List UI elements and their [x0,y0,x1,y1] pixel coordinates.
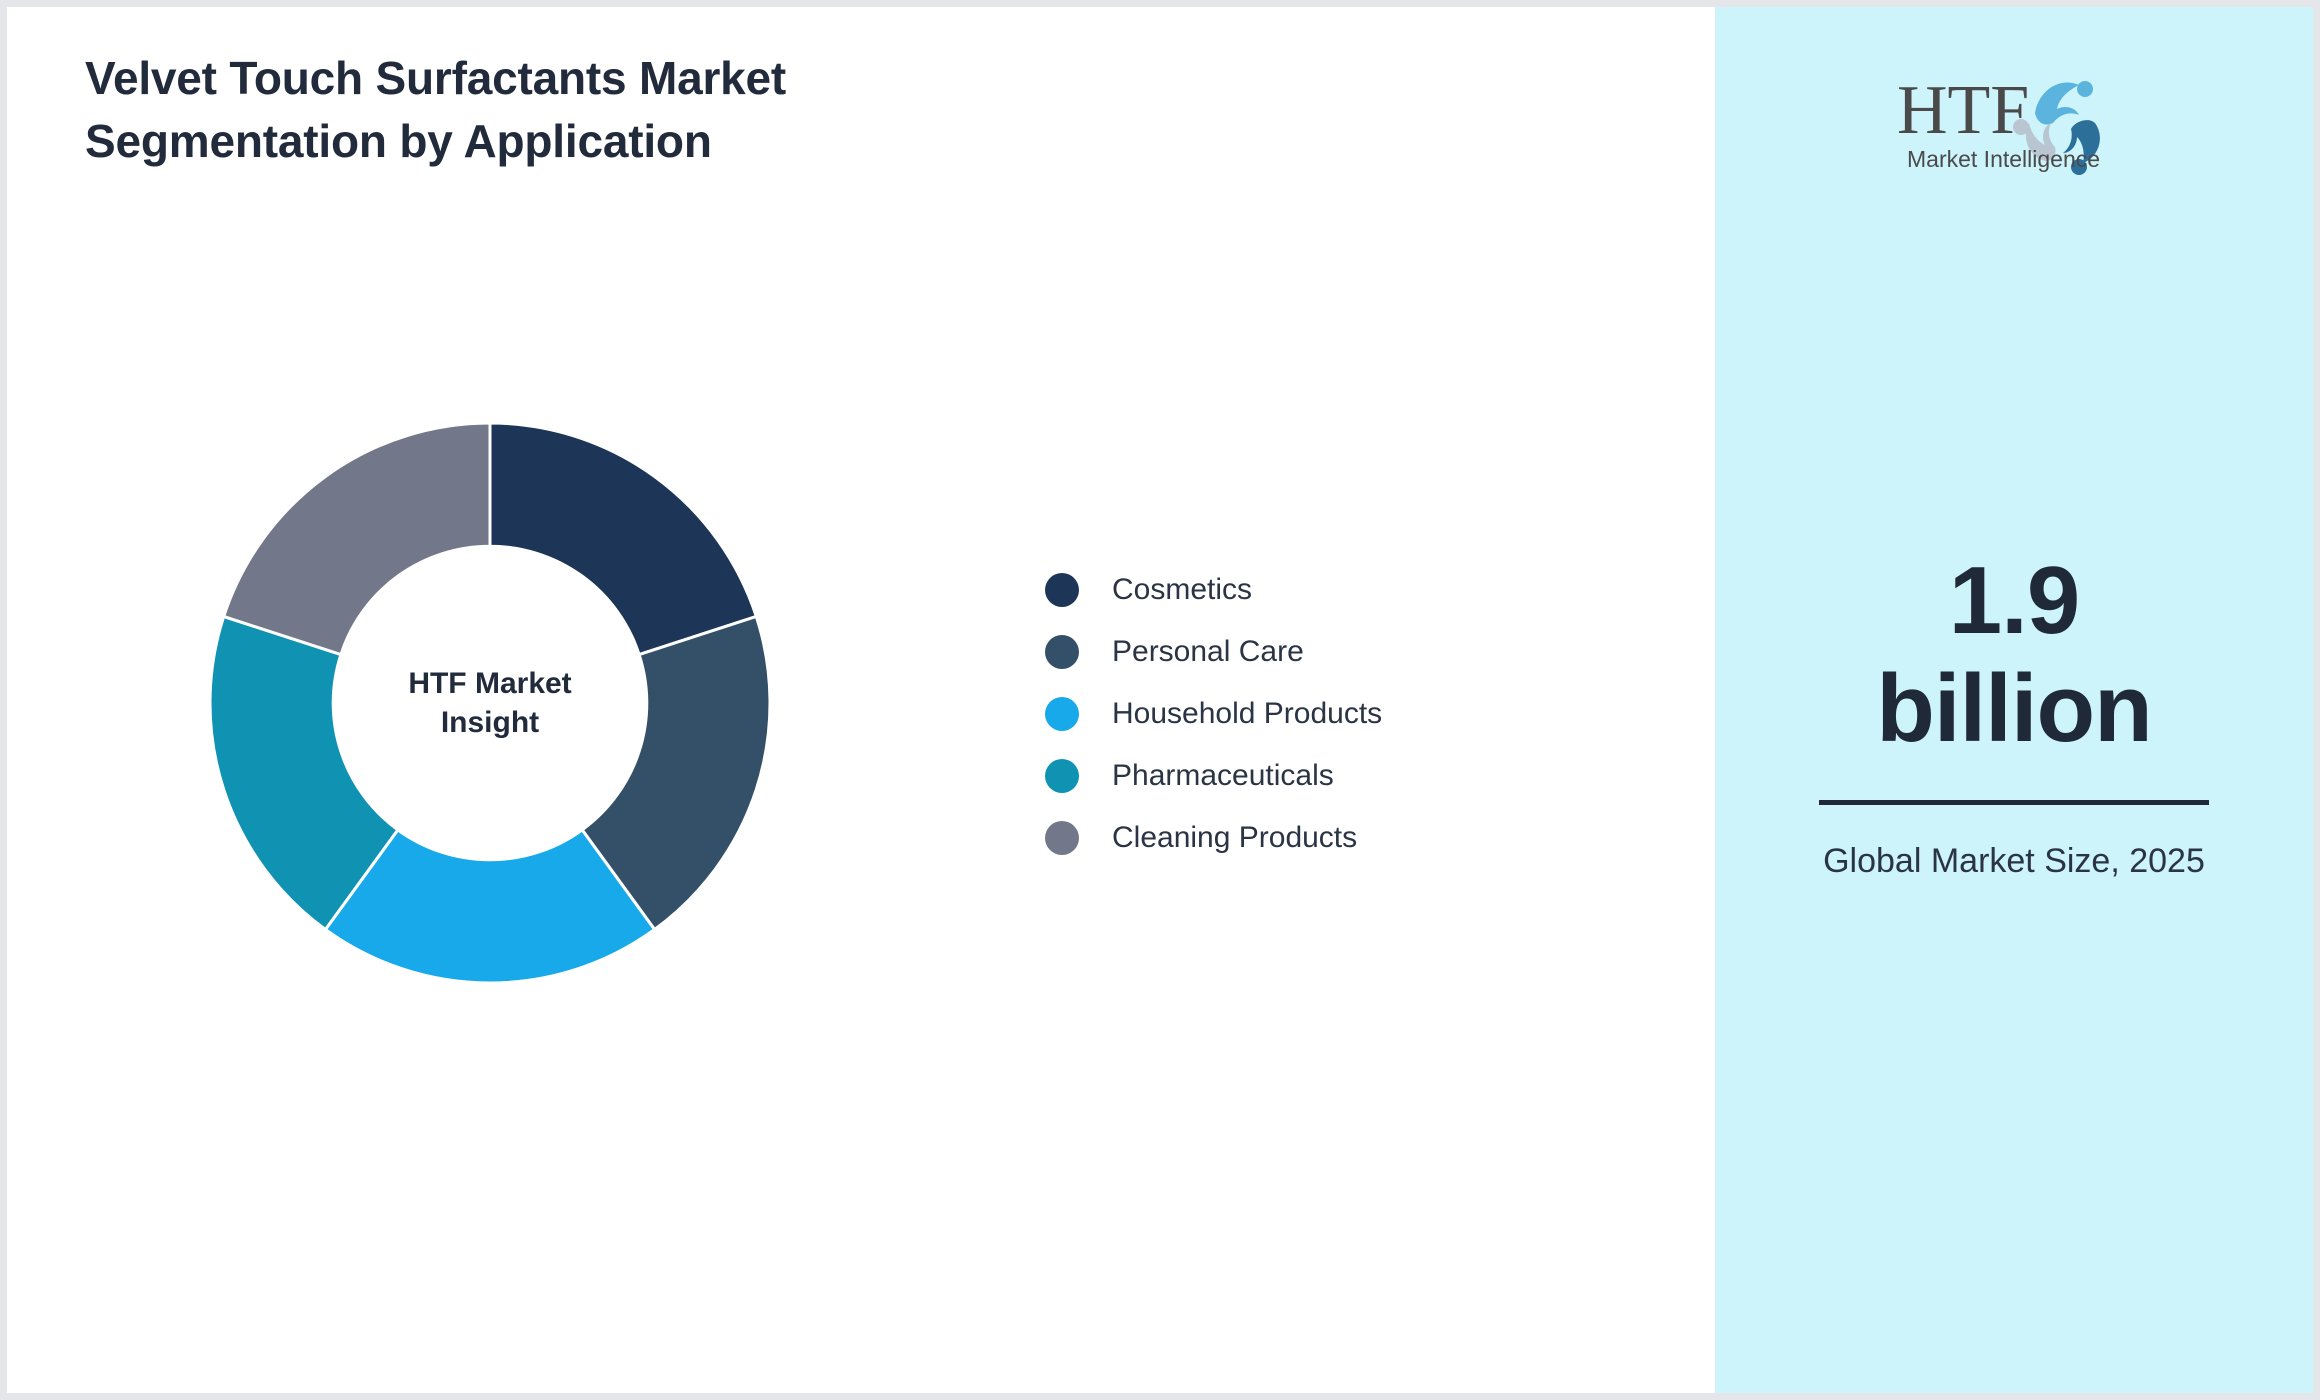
logo-tagline-text: Market Intelligence [1907,146,2100,172]
donut-slice-group [210,423,770,983]
legend-item-label: Cosmetics [1112,573,1252,607]
stat-caption: Global Market Size, 2025 [1789,837,2239,886]
legend-item[interactable]: Cosmetics [1045,559,1382,621]
stat-value-line1: 1.9 [1789,547,2239,655]
legend-item-label: Household Products [1112,697,1382,731]
infographic-card: Velvet Touch Surfactants Market Segmenta… [0,0,2320,1400]
logo-wordmark-text: HTF [1897,72,2029,149]
stat-value-line2: billion [1789,655,2239,763]
legend-swatch-icon [1045,759,1079,793]
stat-panel: HTF Market Intelligence 1.9 billion Glob… [1715,7,2313,1393]
legend-swatch-icon [1045,635,1079,669]
legend-item[interactable]: Pharmaceuticals [1045,745,1382,807]
legend-swatch-icon [1045,573,1079,607]
legend-swatch-icon [1045,821,1079,855]
chart-panel: Velvet Touch Surfactants Market Segmenta… [7,7,1715,1393]
legend-item[interactable]: Cleaning Products [1045,807,1382,869]
donut-slice[interactable] [490,423,756,655]
stat-divider [1819,800,2209,805]
legend-item-label: Pharmaceuticals [1112,759,1334,793]
market-size-stat: 1.9 billion Global Market Size, 2025 [1789,547,2239,886]
legend-item[interactable]: Personal Care [1045,621,1382,683]
legend-swatch-icon [1045,697,1079,731]
logo-svg: HTF Market Intelligence [1889,65,2139,175]
chart-legend: CosmeticsPersonal CareHousehold Products… [1045,559,1382,869]
page-title: Velvet Touch Surfactants Market Segmenta… [85,47,1085,174]
donut-slice[interactable] [224,423,490,655]
legend-item[interactable]: Household Products [1045,683,1382,745]
htf-market-intelligence-logo: HTF Market Intelligence [1889,65,2139,175]
donut-chart: HTF Market Insight [203,416,777,990]
legend-item-label: Personal Care [1112,635,1304,669]
donut-chart-svg [203,416,777,990]
legend-item-label: Cleaning Products [1112,821,1357,855]
